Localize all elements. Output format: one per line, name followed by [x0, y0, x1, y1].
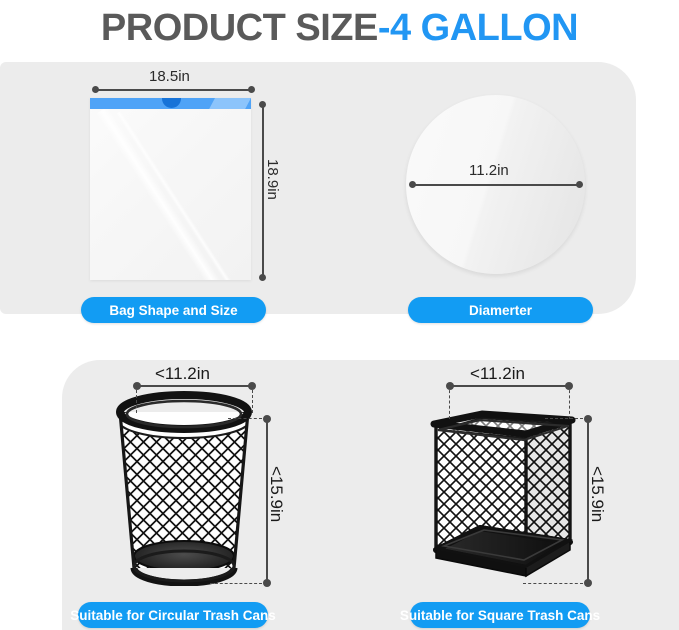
circular-can-width-dimension-line	[138, 385, 252, 387]
square-can-height-ext-bottom	[523, 583, 583, 584]
square-can-width-ext-left	[449, 385, 450, 419]
circular-can-height-ext-bottom	[210, 583, 262, 584]
square-can-width-dot-left	[446, 382, 454, 390]
label-suitable-for-square-trash-cans[interactable]: Suitable for Square Trash Cans	[410, 602, 590, 628]
circular-can-width-dot-left	[133, 382, 141, 390]
bag-width-label: 18.5in	[149, 68, 190, 85]
circular-can-height-dot-top	[263, 415, 271, 423]
bag-width-dot-left	[92, 86, 99, 93]
bag-gloss-streak-secondary	[116, 111, 251, 280]
page-title-accent: -4 GALLON	[378, 7, 578, 50]
square-can-height-dot-bottom	[584, 579, 592, 587]
label-diameter[interactable]: Diamerter	[408, 297, 593, 323]
square-can-height-ext-top	[545, 418, 583, 419]
bag-band-highlight	[209, 98, 251, 109]
diameter-dimension-line	[414, 184, 578, 186]
trash-bag-illustration	[90, 98, 251, 280]
page-title-main: PRODUCT SIZE	[101, 7, 378, 50]
diameter-dot-right	[576, 181, 583, 188]
bag-height-dot-bottom	[259, 274, 266, 281]
diameter-dot-left	[409, 181, 416, 188]
bag-height-dot-top	[259, 101, 266, 108]
bag-height-label: 18.9in	[264, 159, 281, 200]
circular-can-height-dot-bottom	[263, 579, 271, 587]
square-can-height-label: <15.9in	[587, 466, 607, 522]
circular-can-height-ext-top	[228, 418, 262, 419]
square-trash-can-illustration	[420, 390, 580, 586]
square-can-width-label: <11.2in	[470, 364, 525, 384]
page-title: PRODUCT SIZE-4 GALLON	[0, 0, 679, 56]
square-can-width-dimension-line	[451, 385, 569, 387]
square-trash-can-svg	[420, 390, 580, 586]
square-can-height-dot-top	[584, 415, 592, 423]
label-bag-shape-and-size[interactable]: Bag Shape and Size	[81, 297, 266, 323]
bag-width-dot-right	[248, 86, 255, 93]
circular-trash-can-illustration	[98, 390, 270, 586]
square-can-width-ext-right	[569, 385, 570, 419]
circular-can-width-dot-right	[248, 382, 256, 390]
bag-width-dimension-line	[96, 89, 252, 91]
square-can-width-dot-right	[565, 382, 573, 390]
circular-can-width-label: <11.2in	[155, 364, 210, 384]
label-suitable-for-circular-trash-cans[interactable]: Suitable for Circular Trash Cans	[78, 602, 268, 628]
diameter-label: 11.2in	[469, 162, 509, 179]
circular-trash-can-svg	[98, 390, 270, 586]
circular-can-height-label: <15.9in	[266, 466, 286, 522]
